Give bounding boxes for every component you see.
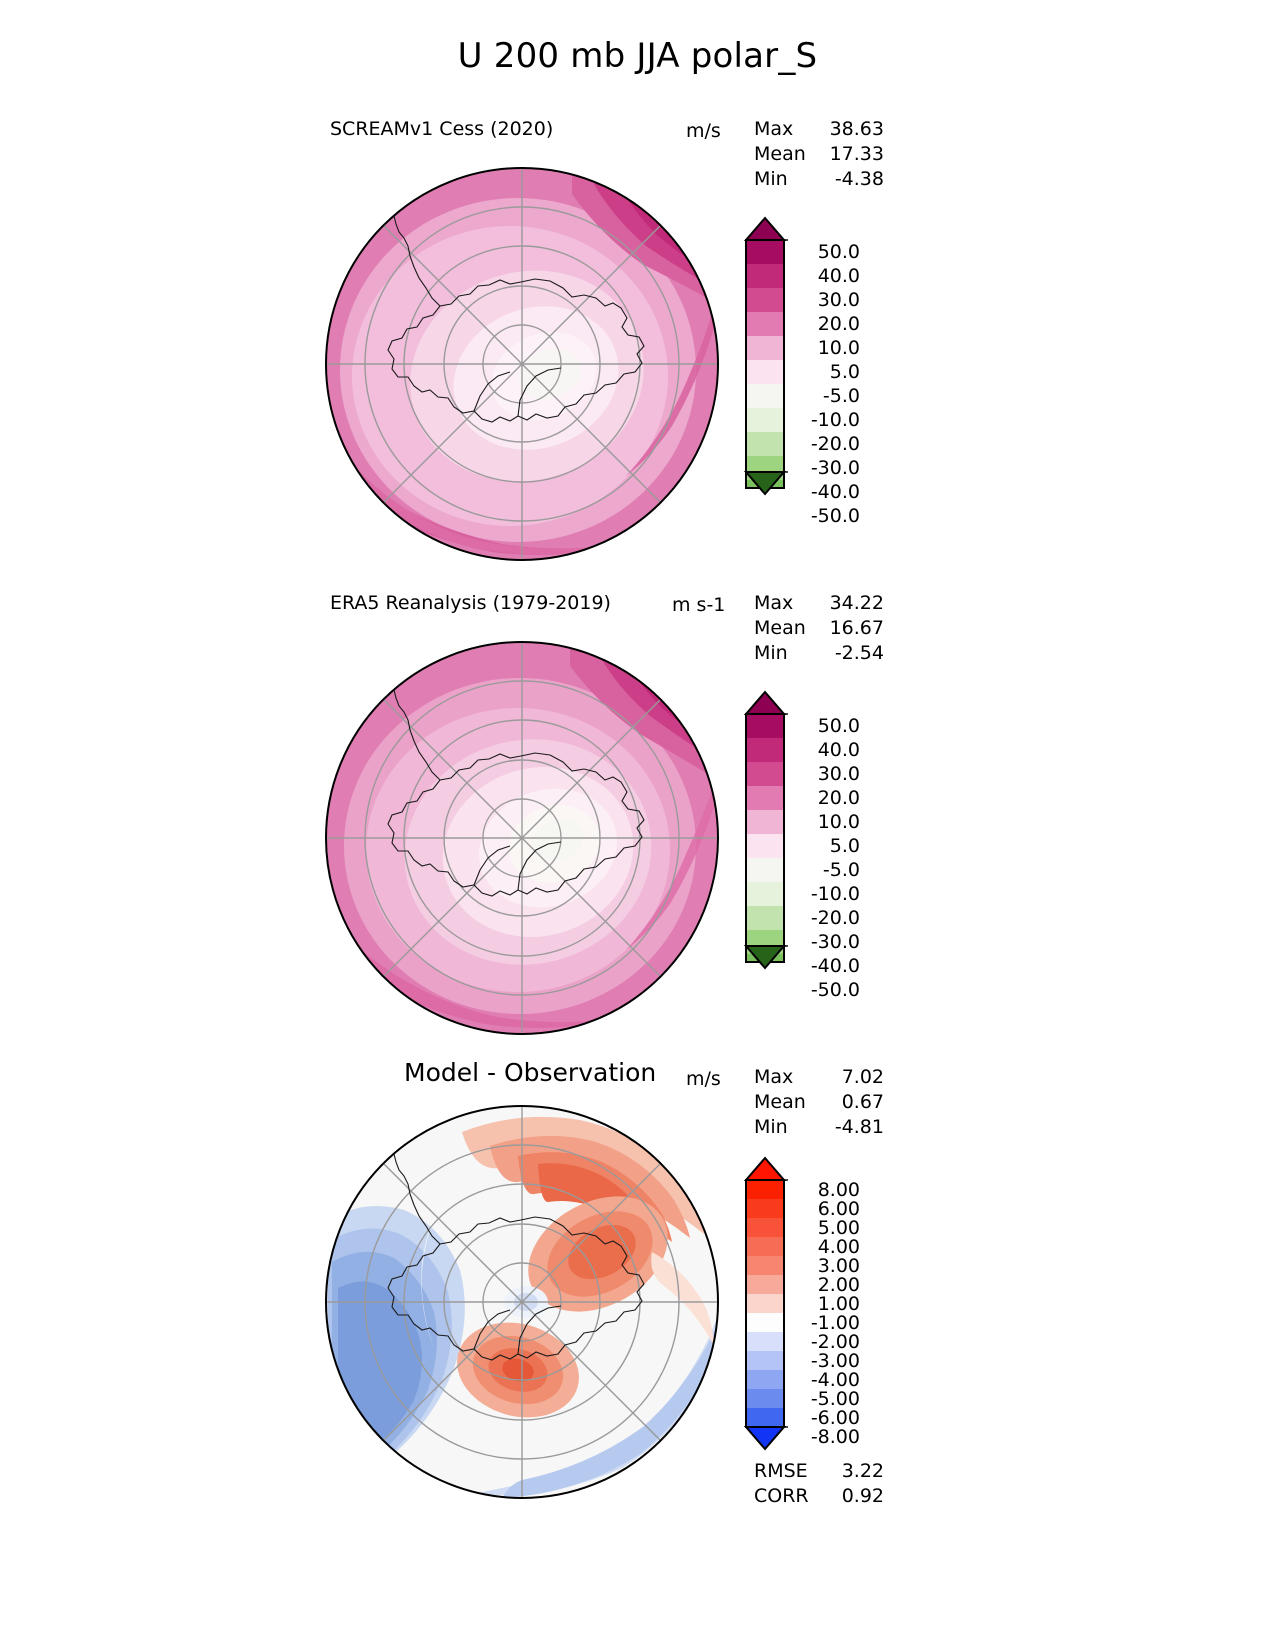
- metric-label: CORR: [754, 1485, 809, 1507]
- stat-row: Min-4.38: [754, 168, 884, 193]
- metric-row: RMSE3.22: [754, 1460, 884, 1485]
- stat-value: -4.81: [835, 1116, 884, 1138]
- stat-label: Max: [754, 592, 793, 614]
- cbar-tick: 40.0: [794, 739, 860, 761]
- metric-label: RMSE: [754, 1460, 808, 1482]
- cbar-tick: 30.0: [794, 289, 860, 311]
- stat-row: Max7.02: [754, 1066, 884, 1091]
- cbar-tick: -30.0: [794, 457, 860, 479]
- graticule-observation: [326, 642, 718, 1034]
- graticule-difference: [326, 1106, 718, 1498]
- cbar-tick: 10.0: [794, 811, 860, 833]
- colorbar-observation: 50.0 40.0 30.0 20.0 10.0 5.0 -5.0 -10.0 …: [742, 684, 788, 974]
- cbar-tick: 20.0: [794, 313, 860, 335]
- stat-row: Mean16.67: [754, 617, 884, 642]
- metric-row: CORR0.92: [754, 1485, 884, 1510]
- cbar-tick: 20.0: [794, 787, 860, 809]
- panel-units-difference: m/s: [686, 1068, 721, 1090]
- graticule-model: [326, 168, 718, 560]
- cbar-tick: 50.0: [794, 241, 860, 263]
- cbar-tick: -20.0: [794, 907, 860, 929]
- metrics-difference: RMSE3.22 CORR0.92: [754, 1460, 884, 1510]
- cbar-tick: -10.0: [794, 883, 860, 905]
- stat-value: 17.33: [830, 143, 884, 165]
- stat-value: 7.02: [842, 1066, 884, 1088]
- stat-label: Max: [754, 118, 793, 140]
- stat-label: Mean: [754, 143, 806, 165]
- stats-difference: Max7.02 Mean0.67 Min-4.81: [754, 1066, 884, 1141]
- cbar-tick: -20.0: [794, 433, 860, 455]
- cbar-tick: 5.0: [794, 361, 860, 383]
- colorbar-model: 50.0 40.0 30.0 20.0 10.0 5.0 -5.0 -10.0 …: [742, 210, 788, 500]
- cbar-tick: -40.0: [794, 481, 860, 503]
- panel-units-model: m/s: [686, 120, 721, 142]
- cbar-tick: -8.00: [794, 1426, 860, 1448]
- stat-value: -2.54: [835, 642, 884, 664]
- figure-title: U 200 mb JJA polar_S: [0, 36, 1275, 76]
- stats-model: Max38.63 Mean17.33 Min-4.38: [754, 118, 884, 193]
- colorbar-difference: 8.00 6.00 5.00 4.00 3.00 2.00 1.00 -1.00…: [742, 1154, 788, 1454]
- stat-value: 0.67: [842, 1091, 884, 1113]
- panel-title-model: SCREAMv1 Cess (2020): [330, 118, 553, 140]
- panel-observation: ERA5 Reanalysis (1979-2019) m s-1 Max34.…: [0, 592, 1275, 1012]
- metric-value: 0.92: [842, 1485, 884, 1507]
- stat-value: 16.67: [830, 617, 884, 639]
- stat-label: Mean: [754, 617, 806, 639]
- stat-label: Max: [754, 1066, 793, 1088]
- cbar-tick: -50.0: [794, 979, 860, 1001]
- cbar-tick: -30.0: [794, 931, 860, 953]
- stat-label: Mean: [754, 1091, 806, 1113]
- cbar-tick: 30.0: [794, 763, 860, 785]
- stat-row: Min-4.81: [754, 1116, 884, 1141]
- polar-map-model: [322, 164, 722, 564]
- stat-row: Mean0.67: [754, 1091, 884, 1116]
- cbar-tick: -50.0: [794, 505, 860, 527]
- metric-value: 3.22: [842, 1460, 884, 1482]
- stat-label: Min: [754, 168, 788, 190]
- panel-difference: Model - Observation m/s Max7.02 Mean0.67…: [0, 1062, 1275, 1492]
- stat-value: 34.22: [830, 592, 884, 614]
- polar-map-observation: [322, 638, 722, 1038]
- cbar-tick: 10.0: [794, 337, 860, 359]
- cbar-tick: -5.0: [794, 385, 860, 407]
- stat-value: 38.63: [830, 118, 884, 140]
- stat-label: Min: [754, 1116, 788, 1138]
- stat-label: Min: [754, 642, 788, 664]
- stat-row: Max38.63: [754, 118, 884, 143]
- polar-map-difference: [322, 1102, 722, 1502]
- cbar-tick: -5.0: [794, 859, 860, 881]
- stat-row: Max34.22: [754, 592, 884, 617]
- stat-value: -4.38: [835, 168, 884, 190]
- panel-title-observation: ERA5 Reanalysis (1979-2019): [330, 592, 611, 614]
- cbar-tick: 40.0: [794, 265, 860, 287]
- cbar-tick: 5.0: [794, 835, 860, 857]
- cbar-tick: 50.0: [794, 715, 860, 737]
- panel-title-difference: Model - Observation: [404, 1058, 656, 1087]
- stat-row: Mean17.33: [754, 143, 884, 168]
- panel-model: SCREAMv1 Cess (2020) m/s Max38.63 Mean17…: [0, 118, 1275, 538]
- stats-observation: Max34.22 Mean16.67 Min-2.54: [754, 592, 884, 667]
- stat-row: Min-2.54: [754, 642, 884, 667]
- cbar-tick: -40.0: [794, 955, 860, 977]
- cbar-tick: -10.0: [794, 409, 860, 431]
- panel-units-observation: m s-1: [672, 594, 725, 616]
